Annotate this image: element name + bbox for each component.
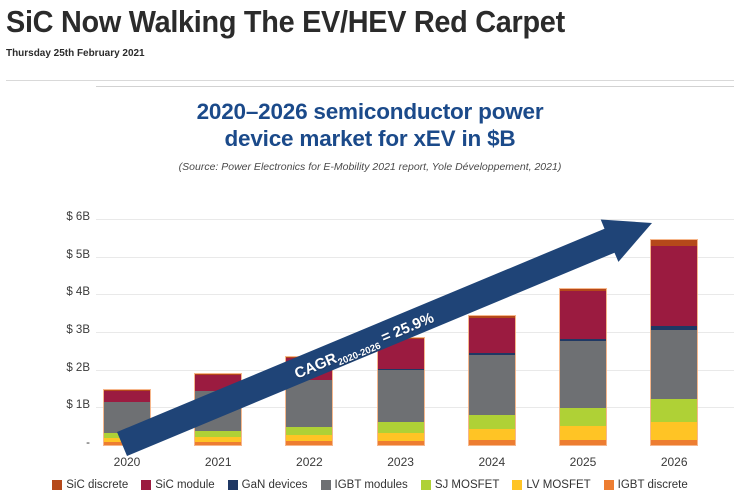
bar-segment-sj-mosfet[interactable] [195, 431, 241, 437]
bar-segment-sj-mosfet[interactable] [469, 415, 515, 429]
gridline [96, 219, 734, 220]
bar-segment-sj-mosfet[interactable] [286, 427, 332, 435]
legend-swatch-icon [52, 480, 62, 490]
y-axis-tick-label: $ 6B [34, 211, 90, 223]
bar-segment-igbt-modules[interactable] [286, 380, 332, 427]
legend-label: IGBT discrete [618, 479, 688, 491]
gridline [96, 294, 734, 295]
x-axis-line [96, 86, 734, 87]
bar-segment-gan-devices[interactable] [560, 339, 606, 341]
header-divider [6, 80, 734, 81]
bar-segment-igbt-discrete[interactable] [560, 440, 606, 445]
x-axis-tick-label-2022: 2022 [266, 455, 352, 469]
chart-legend: SiC discreteSiC moduleGaN devicesIGBT mo… [0, 474, 740, 496]
legend-item-sic-module[interactable]: SiC module [141, 479, 214, 491]
bar-segment-sj-mosfet[interactable] [560, 408, 606, 426]
legend-item-gan-devices[interactable]: GaN devices [228, 479, 308, 491]
y-axis-tick-label: $ 3B [34, 324, 90, 336]
bar-2020[interactable] [104, 390, 150, 445]
y-axis-tick-label: $ 2B [34, 362, 90, 374]
legend-label: LV MOSFET [526, 479, 590, 491]
bar-segment-lv-mosfet[interactable] [651, 422, 697, 440]
bar-segment-igbt-discrete[interactable] [104, 442, 150, 445]
legend-label: SJ MOSFET [435, 479, 500, 491]
bar-segment-lv-mosfet[interactable] [469, 429, 515, 440]
bar-segment-lv-mosfet[interactable] [104, 438, 150, 442]
legend-swatch-icon [604, 480, 614, 490]
page-header: SiC Now Walking The EV/HEV Red Carpet Th… [0, 0, 740, 59]
legend-item-igbt-discrete[interactable]: IGBT discrete [604, 479, 688, 491]
legend-label: GaN devices [242, 479, 308, 491]
legend-swatch-icon [141, 480, 151, 490]
legend-label: IGBT modules [335, 479, 408, 491]
x-axis-tick-label-2020: 2020 [84, 455, 170, 469]
bar-segment-sic-module[interactable] [560, 291, 606, 339]
x-axis-tick-label-2024: 2024 [449, 455, 535, 469]
bar-segment-lv-mosfet[interactable] [195, 437, 241, 442]
bar-segment-igbt-modules[interactable] [104, 402, 150, 433]
bar-segment-sj-mosfet[interactable] [378, 422, 424, 433]
bar-segment-gan-devices[interactable] [651, 326, 697, 329]
chart-plot-area: $ 6B$ 5B$ 4B$ 3B$ 2B$ 1B- 20202021202220… [0, 86, 740, 498]
gridline [96, 257, 734, 258]
legend-label: SiC discrete [66, 479, 128, 491]
y-axis-tick-label: $ 4B [34, 286, 90, 298]
bar-segment-igbt-discrete[interactable] [651, 440, 697, 445]
legend-item-igbt-modules[interactable]: IGBT modules [321, 479, 408, 491]
y-axis-tick-label: - [34, 437, 90, 449]
legend-item-sic-discrete[interactable]: SiC discrete [52, 479, 128, 491]
legend-swatch-icon [512, 480, 522, 490]
y-axis-tick-label: $ 1B [34, 399, 90, 411]
legend-item-sj-mosfet[interactable]: SJ MOSFET [421, 479, 500, 491]
legend-swatch-icon [321, 480, 331, 490]
x-axis-tick-label-2021: 2021 [175, 455, 261, 469]
bar-segment-igbt-modules[interactable] [378, 370, 424, 422]
bar-segment-igbt-discrete[interactable] [469, 440, 515, 445]
bar-segment-igbt-modules[interactable] [651, 330, 697, 400]
bar-segment-igbt-modules[interactable] [560, 341, 606, 408]
bar-segment-igbt-discrete[interactable] [195, 442, 241, 445]
bar-segment-igbt-discrete[interactable] [378, 441, 424, 445]
bar-segment-gan-devices[interactable] [469, 353, 515, 355]
x-axis-tick-label-2025: 2025 [540, 455, 626, 469]
bar-2024[interactable] [469, 316, 515, 445]
bar-2021[interactable] [195, 374, 241, 445]
x-axis-tick-label-2023: 2023 [358, 455, 444, 469]
bar-segment-igbt-modules[interactable] [469, 355, 515, 415]
bar-segment-sj-mosfet[interactable] [104, 433, 150, 438]
bar-segment-sic-discrete[interactable] [560, 289, 606, 291]
legend-item-lv-mosfet[interactable]: LV MOSFET [512, 479, 590, 491]
page-title: SiC Now Walking The EV/HEV Red Carpet [6, 6, 689, 39]
bar-segment-lv-mosfet[interactable] [286, 435, 332, 441]
bar-segment-lv-mosfet[interactable] [378, 433, 424, 441]
bar-segment-sic-discrete[interactable] [651, 240, 697, 246]
y-axis-tick-label: $ 5B [34, 249, 90, 261]
legend-swatch-icon [228, 480, 238, 490]
bar-2025[interactable] [560, 289, 606, 445]
legend-label: SiC module [155, 479, 214, 491]
x-axis-tick-label-2026: 2026 [631, 455, 717, 469]
chart-card: 2020–2026 semiconductor power device mar… [0, 86, 740, 498]
cagr-subscript: 2020-2026 [336, 341, 382, 369]
bar-segment-sic-discrete[interactable] [104, 390, 150, 391]
bar-segment-sic-discrete[interactable] [195, 374, 241, 375]
bar-2023[interactable] [378, 338, 424, 445]
bar-segment-sic-module[interactable] [104, 391, 150, 402]
bar-segment-sj-mosfet[interactable] [651, 399, 697, 422]
bar-segment-sic-module[interactable] [651, 246, 697, 326]
bar-segment-igbt-modules[interactable] [195, 391, 241, 431]
bar-segment-sic-module[interactable] [195, 375, 241, 391]
bar-segment-sic-discrete[interactable] [469, 316, 515, 318]
bar-2026[interactable] [651, 240, 697, 445]
bar-segment-igbt-discrete[interactable] [286, 441, 332, 445]
publish-date: Thursday 25th February 2021 [6, 47, 703, 59]
bar-segment-sic-module[interactable] [469, 318, 515, 354]
bar-segment-lv-mosfet[interactable] [560, 426, 606, 440]
legend-swatch-icon [421, 480, 431, 490]
